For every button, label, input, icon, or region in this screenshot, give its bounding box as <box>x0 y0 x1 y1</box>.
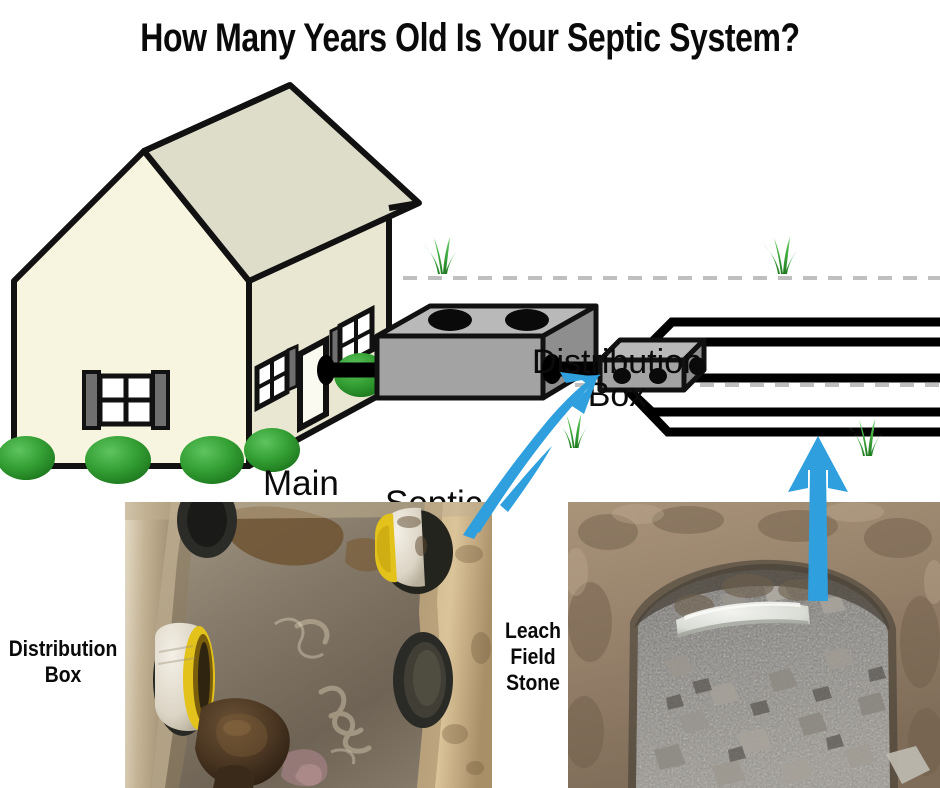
house-illustration <box>14 85 419 466</box>
caption-distribution-box: Distribution Box <box>8 636 119 688</box>
house-front-window <box>84 372 168 428</box>
distribution-box-photo <box>125 502 492 788</box>
page-title: How Many Years Old Is Your Septic System… <box>94 16 846 60</box>
leach-field-stone-photo <box>568 502 940 788</box>
label-distribution-box: Distribution Box <box>517 346 717 411</box>
house-door <box>300 340 326 428</box>
caption-leach-field-stone: Leach Field Stone <box>501 618 564 696</box>
pipe-boot-seal-empty <box>393 632 453 728</box>
septic-system-diagram: Distribution Box Main Line Septic Tank L… <box>0 78 940 498</box>
